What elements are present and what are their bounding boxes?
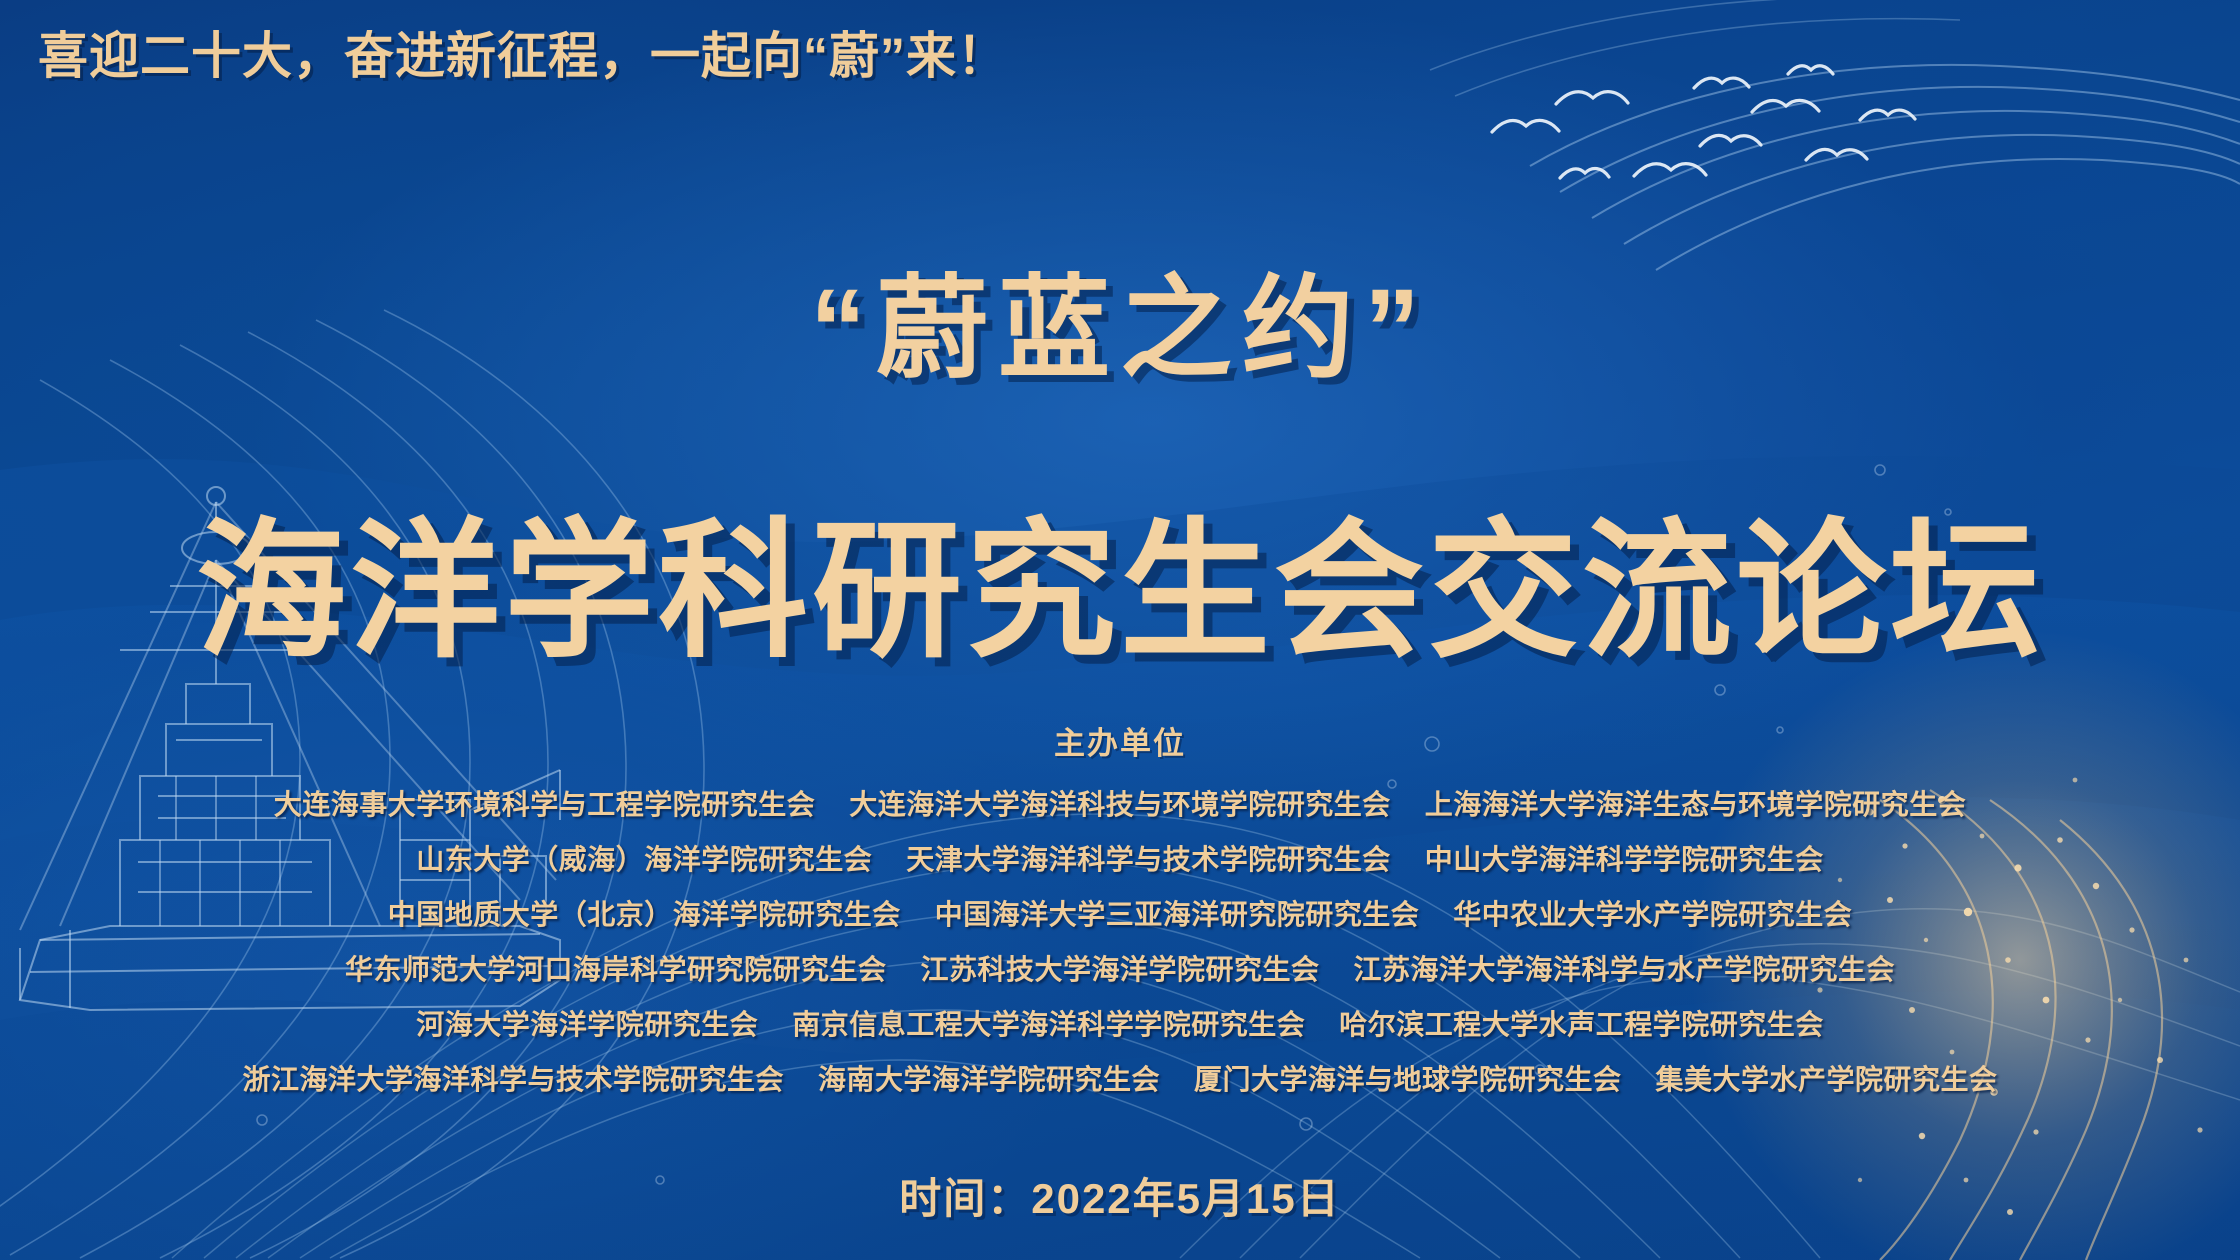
- organizer-name: 中山大学海洋科学学院研究生会: [1425, 844, 1824, 875]
- organizer-row: 中国地质大学（北京）海洋学院研究生会中国海洋大学三亚海洋研究院研究生会华中农业大…: [0, 887, 2240, 942]
- organizer-name: 上海海洋大学海洋生态与环境学院研究生会: [1425, 789, 1967, 820]
- organizer-name: 中国地质大学（北京）海洋学院研究生会: [388, 899, 901, 930]
- organizer-name: 山东大学（威海）海洋学院研究生会: [416, 844, 872, 875]
- organizer-name: 厦门大学海洋与地球学院研究生会: [1194, 1064, 1622, 1095]
- organizer-name: 江苏科技大学海洋学院研究生会: [920, 954, 1319, 985]
- organizer-name: 河海大学海洋学院研究生会: [416, 1009, 758, 1040]
- top-slogan: 喜迎二十大，奋进新征程，一起向“蔚”来！: [38, 16, 1008, 88]
- organizer-name: 华东师范大学河口海岸科学研究院研究生会: [345, 954, 887, 985]
- organizer-name: 浙江海洋大学海洋科学与技术学院研究生会: [242, 1064, 784, 1095]
- organizer-row: 山东大学（威海）海洋学院研究生会天津大学海洋科学与技术学院研究生会中山大学海洋科…: [0, 832, 2240, 887]
- organizer-name: 江苏海洋大学海洋科学与水产学院研究生会: [1354, 954, 1896, 985]
- poster-subtitle: “蔚蓝之约”: [0, 238, 2240, 400]
- organizer-name: 中国海洋大学三亚海洋研究院研究生会: [935, 899, 1420, 930]
- organizer-name: 大连海事大学环境科学与工程学院研究生会: [274, 789, 816, 820]
- event-date: 时间：2022年5月15日: [0, 1165, 2240, 1226]
- organizer-row: 大连海事大学环境科学与工程学院研究生会大连海洋大学海洋科技与环境学院研究生会上海…: [0, 777, 2240, 832]
- organizer-name: 天津大学海洋科学与技术学院研究生会: [906, 844, 1391, 875]
- organizers-list: 大连海事大学环境科学与工程学院研究生会大连海洋大学海洋科技与环境学院研究生会上海…: [0, 777, 2240, 1107]
- organizer-name: 华中农业大学水产学院研究生会: [1453, 899, 1852, 930]
- organizers-block: 主办单位 大连海事大学环境科学与工程学院研究生会大连海洋大学海洋科技与环境学院研…: [0, 718, 2240, 1107]
- organizer-row: 浙江海洋大学海洋科学与技术学院研究生会海南大学海洋学院研究生会厦门大学海洋与地球…: [0, 1052, 2240, 1107]
- organizer-name: 集美大学水产学院研究生会: [1656, 1064, 1998, 1095]
- organizer-name: 哈尔滨工程大学水声工程学院研究生会: [1339, 1009, 1824, 1040]
- organizer-name: 海南大学海洋学院研究生会: [818, 1064, 1160, 1095]
- page-title: 海洋学科研究生会交流论坛: [0, 470, 2240, 687]
- organizer-name: 大连海洋大学海洋科技与环境学院研究生会: [849, 789, 1391, 820]
- organizer-row: 华东师范大学河口海岸科学研究院研究生会江苏科技大学海洋学院研究生会江苏海洋大学海…: [0, 942, 2240, 997]
- poster-canvas: 喜迎二十大，奋进新征程，一起向“蔚”来！ “蔚蓝之约” 海洋学科研究生会交流论坛…: [0, 0, 2240, 1260]
- organizers-label: 主办单位: [0, 718, 2240, 763]
- organizer-name: 南京信息工程大学海洋科学学院研究生会: [792, 1009, 1305, 1040]
- organizer-row: 河海大学海洋学院研究生会南京信息工程大学海洋科学学院研究生会哈尔滨工程大学水声工…: [0, 997, 2240, 1052]
